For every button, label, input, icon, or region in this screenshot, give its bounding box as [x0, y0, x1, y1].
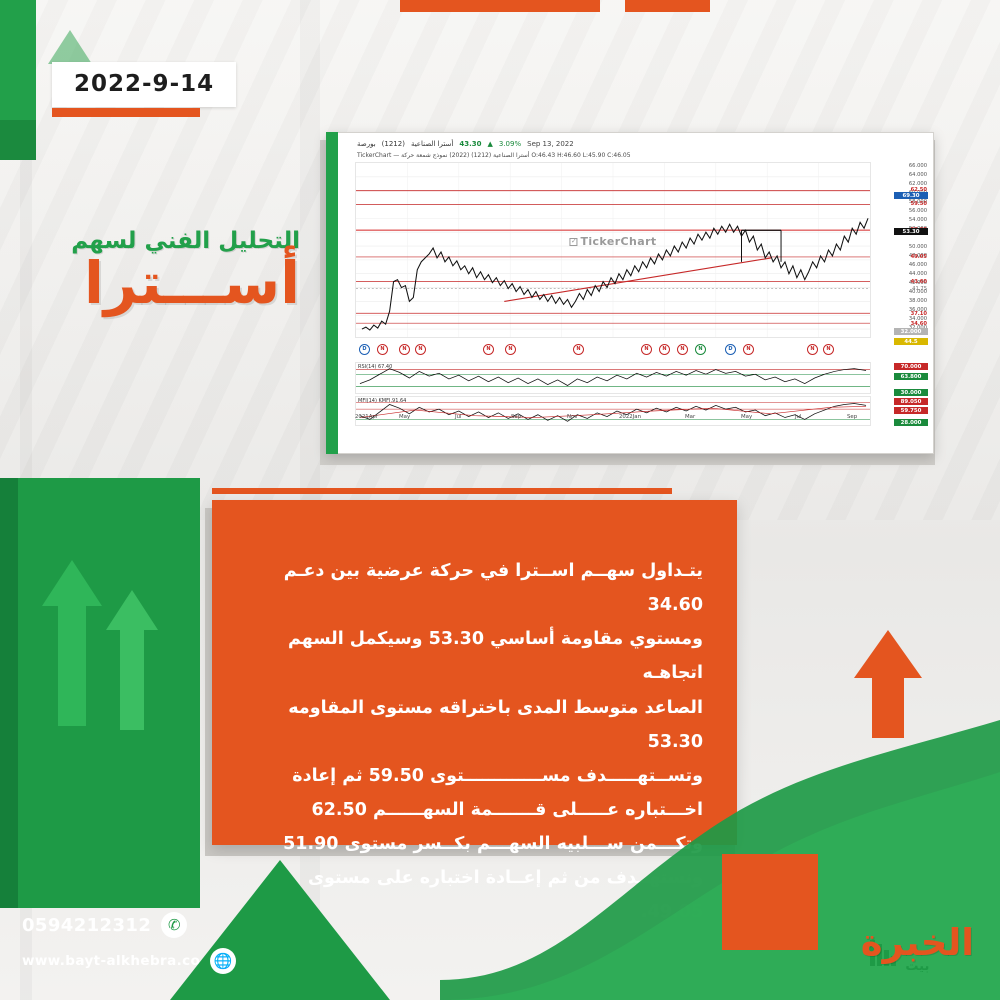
- page-title-main: أســـترا: [40, 256, 300, 311]
- orange-square-accent: [722, 854, 818, 950]
- event-markers-row: D N N N N N N N N N N D N N N: [355, 340, 871, 360]
- event-marker[interactable]: N: [483, 344, 494, 355]
- logo-arabic-text: الخبرة: [861, 924, 974, 961]
- price-level-label: 37.10: [875, 311, 927, 317]
- rsi-level-tag: 30.000: [894, 389, 928, 396]
- indicator-label-rsi: RSI(14) 67.40: [358, 364, 392, 370]
- ticker-header: بورصة (1212) أسترا الصناعية 43.30 ▲ 3.09…: [331, 137, 929, 150]
- indicator-label-mfi: MFI(14) KMFI.91.64: [358, 398, 406, 404]
- price-level-label: 59.50: [875, 201, 927, 207]
- event-marker[interactable]: N: [505, 344, 516, 355]
- date-badge: 2022-9-14: [52, 62, 236, 107]
- orange-arrow-stem: [872, 678, 904, 738]
- green-arrow-up-icon-2: [106, 590, 158, 630]
- price-level-label: 41.75: [875, 286, 927, 292]
- ticker-name: أسترا الصناعية: [411, 140, 453, 148]
- price-tag-volume: 44.5: [894, 338, 928, 345]
- top-left-green-block-2: [0, 120, 36, 160]
- indicator-pane-rsi: RSI(14) 67.40: [355, 362, 871, 394]
- chart-card-green-edge: [326, 132, 338, 454]
- event-marker[interactable]: N: [641, 344, 652, 355]
- left-green-panel: [0, 478, 200, 908]
- top-left-green-block: [0, 0, 36, 120]
- y-tick-label: 54.000: [875, 217, 927, 223]
- x-tick-label: 2021Apr: [355, 414, 378, 420]
- chart-card: بورصة (1212) أسترا الصناعية 43.30 ▲ 3.09…: [326, 132, 934, 454]
- x-tick-label: Nov: [567, 414, 578, 420]
- globe-icon: 🌐: [210, 948, 236, 974]
- event-marker[interactable]: N: [377, 344, 388, 355]
- green-arrow-stem: [58, 606, 86, 726]
- price-pane: TickerChart: [355, 162, 871, 338]
- mfi-level-tag: 28.000: [894, 419, 928, 426]
- green-arrow-up-icon: [42, 560, 102, 606]
- y-tick-label: 50.000: [875, 244, 927, 250]
- event-marker[interactable]: N: [677, 344, 688, 355]
- brand-logo: الخبرة بيت: [861, 924, 974, 974]
- y-tick-label: 44.000: [875, 271, 927, 277]
- contact-website-row[interactable]: 🌐 www.bayt-alkhebra.co: [22, 948, 236, 974]
- price-axis-right: 66.000 64.000 62.000 60.000 58.000 56.00…: [873, 162, 929, 426]
- y-tick-label: 38.000: [875, 298, 927, 304]
- ticker-change-arrow-icon: ▲: [487, 140, 492, 148]
- event-marker[interactable]: N: [659, 344, 670, 355]
- event-marker[interactable]: N: [823, 344, 834, 355]
- event-marker[interactable]: N: [399, 344, 410, 355]
- top-orange-bar: [400, 0, 600, 12]
- ticker-market: بورصة: [357, 140, 376, 148]
- big-green-arrow-stem: [235, 940, 315, 1000]
- analysis-line: يتـداول سهــم اســترا في حركة عرضية بين …: [246, 554, 703, 622]
- event-marker[interactable]: D: [725, 344, 736, 355]
- y-tick-label: 64.000: [875, 172, 927, 178]
- top-orange-bar-secondary: [625, 0, 710, 12]
- rsi-level-tag: 63.800: [894, 373, 928, 380]
- price-tag-low: 32.000: [894, 328, 928, 335]
- price-tag-level: 53.30: [894, 228, 928, 235]
- event-marker[interactable]: D: [359, 344, 370, 355]
- event-marker[interactable]: N: [415, 344, 426, 355]
- y-tick-label: 56.000: [875, 208, 927, 214]
- page-title: التحليل الفني لسهم أســـترا: [40, 228, 300, 311]
- analysis-divider: [212, 488, 672, 494]
- event-marker[interactable]: N: [743, 344, 754, 355]
- x-tick-label: May: [399, 414, 410, 420]
- price-level-label: 43.60: [875, 279, 927, 285]
- x-tick-label: Jul: [455, 414, 462, 420]
- y-tick-label: 66.000: [875, 163, 927, 169]
- orange-arrow-up-icon: [854, 630, 922, 678]
- green-arrow-stem-2: [120, 630, 144, 730]
- x-tick-label: 2022Jan: [619, 414, 641, 420]
- event-marker[interactable]: N: [573, 344, 584, 355]
- ticker-date: Sep 13, 2022: [527, 140, 574, 148]
- left-green-panel-edge: [0, 478, 18, 908]
- time-axis: 2021Apr May Jul Sep Nov 2022Jan Mar May …: [355, 414, 871, 424]
- event-marker[interactable]: N: [695, 344, 706, 355]
- x-tick-label: Jul: [795, 414, 802, 420]
- x-tick-label: May: [741, 414, 752, 420]
- mfi-level-tag: 89.050: [894, 398, 928, 405]
- plot-area: TickerChart D N N N N N N N N N N D N N …: [331, 162, 929, 424]
- website-url: www.bayt-alkhebra.co: [22, 953, 200, 969]
- chart-inner: بورصة (1212) أسترا الصناعية 43.30 ▲ 3.09…: [327, 133, 933, 453]
- ticker-code: (1212): [382, 140, 405, 148]
- watermark-text: TickerChart: [580, 235, 656, 248]
- whatsapp-icon: ✆: [161, 912, 187, 938]
- x-tick-label: Mar: [685, 414, 695, 420]
- phone-number: 0594212312: [22, 915, 151, 936]
- x-tick-label: Sep: [511, 414, 521, 420]
- ticker-price: 43.30: [459, 140, 481, 148]
- event-marker[interactable]: N: [807, 344, 818, 355]
- rsi-chart-svg: [356, 363, 870, 393]
- green-arrow-up-icon: [48, 30, 92, 64]
- mfi-level-tag: 59.750: [894, 407, 928, 414]
- watermark-check-icon: [569, 238, 577, 246]
- price-tag-current: 69.30: [894, 192, 928, 199]
- ticker-subheader: TickerChart — أسترا الصناعية (1212) (202…: [331, 150, 929, 161]
- price-level-label: 49.05: [875, 254, 927, 260]
- rsi-level-tag: 70.000: [894, 363, 928, 370]
- contact-phone-row[interactable]: ✆ 0594212312: [22, 912, 187, 938]
- price-level-label: 34.60: [875, 321, 927, 327]
- date-underline: [52, 108, 200, 117]
- price-chart-svg: [356, 163, 870, 337]
- chart-watermark: TickerChart: [569, 235, 656, 248]
- ticker-change: 3.09%: [499, 140, 521, 148]
- y-tick-label: 46.000: [875, 262, 927, 268]
- x-tick-label: Sep: [847, 414, 857, 420]
